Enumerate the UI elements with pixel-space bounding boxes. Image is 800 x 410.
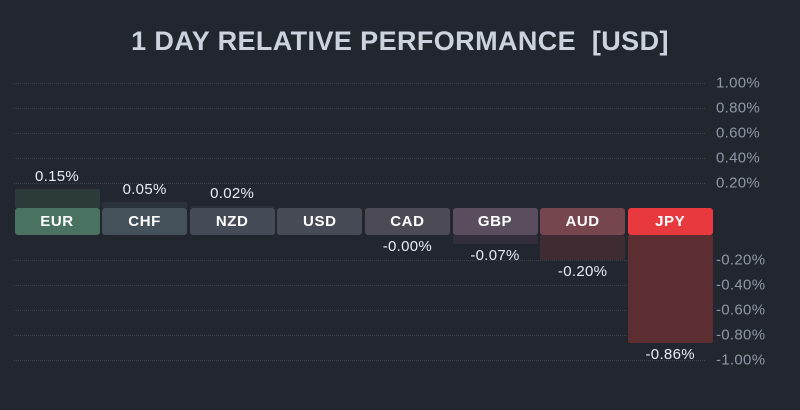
- y-axis-tick-label: -0.40%: [716, 277, 765, 294]
- bar-label-cad[interactable]: CAD: [365, 208, 450, 235]
- bar-value-gbp: -0.07%: [453, 247, 538, 264]
- bar-label-jpy[interactable]: JPY: [628, 208, 713, 235]
- bar-eur[interactable]: EUR0.15%: [15, 60, 100, 390]
- bar-jpy[interactable]: JPY-0.86%: [628, 60, 713, 390]
- y-axis-tick-label: 0.20%: [716, 175, 760, 192]
- bar-body-eur: [15, 189, 100, 208]
- bar-nzd[interactable]: NZD0.02%: [190, 60, 275, 390]
- bar-value-jpy: -0.86%: [628, 346, 713, 363]
- bar-value-nzd: 0.02%: [190, 185, 275, 202]
- bar-body-jpy: [628, 235, 713, 343]
- bar-value-eur: 0.15%: [15, 168, 100, 185]
- y-axis-tick-label: -0.80%: [716, 327, 765, 344]
- bar-value-cad: -0.00%: [365, 238, 450, 255]
- bar-body-aud: [540, 235, 625, 260]
- bar-gbp[interactable]: GBP-0.07%: [453, 60, 538, 390]
- bar-aud[interactable]: AUD-0.20%: [540, 60, 625, 390]
- bar-usd[interactable]: USD: [277, 60, 362, 390]
- relative-performance-chart: 1 DAY RELATIVE PERFORMANCE [USD] 1.00%0.…: [0, 0, 800, 410]
- bar-cad[interactable]: CAD-0.00%: [365, 60, 450, 390]
- y-axis-tick-label: -1.00%: [716, 352, 765, 369]
- y-axis-tick-label: 0.60%: [716, 125, 760, 142]
- bar-body-gbp: [453, 235, 538, 244]
- y-axis-tick-label: -0.60%: [716, 302, 765, 319]
- y-axis-tick-label: 0.80%: [716, 100, 760, 117]
- bar-label-usd[interactable]: USD: [277, 208, 362, 235]
- bar-value-aud: -0.20%: [540, 263, 625, 280]
- plot-area: 1.00%0.80%0.60%0.40%0.20%-0.20%-0.40%-0.…: [0, 60, 800, 390]
- y-axis-tick-label: 0.40%: [716, 150, 760, 167]
- bar-label-chf[interactable]: CHF: [102, 208, 187, 235]
- y-axis-tick-label: -0.20%: [716, 252, 765, 269]
- bar-label-eur[interactable]: EUR: [15, 208, 100, 235]
- bar-label-aud[interactable]: AUD: [540, 208, 625, 235]
- bar-label-gbp[interactable]: GBP: [453, 208, 538, 235]
- chart-title: 1 DAY RELATIVE PERFORMANCE [USD]: [0, 26, 800, 57]
- bar-chf[interactable]: CHF0.05%: [102, 60, 187, 390]
- bar-value-chf: 0.05%: [102, 181, 187, 198]
- bar-label-nzd[interactable]: NZD: [190, 208, 275, 235]
- y-axis-tick-label: 1.00%: [716, 75, 760, 92]
